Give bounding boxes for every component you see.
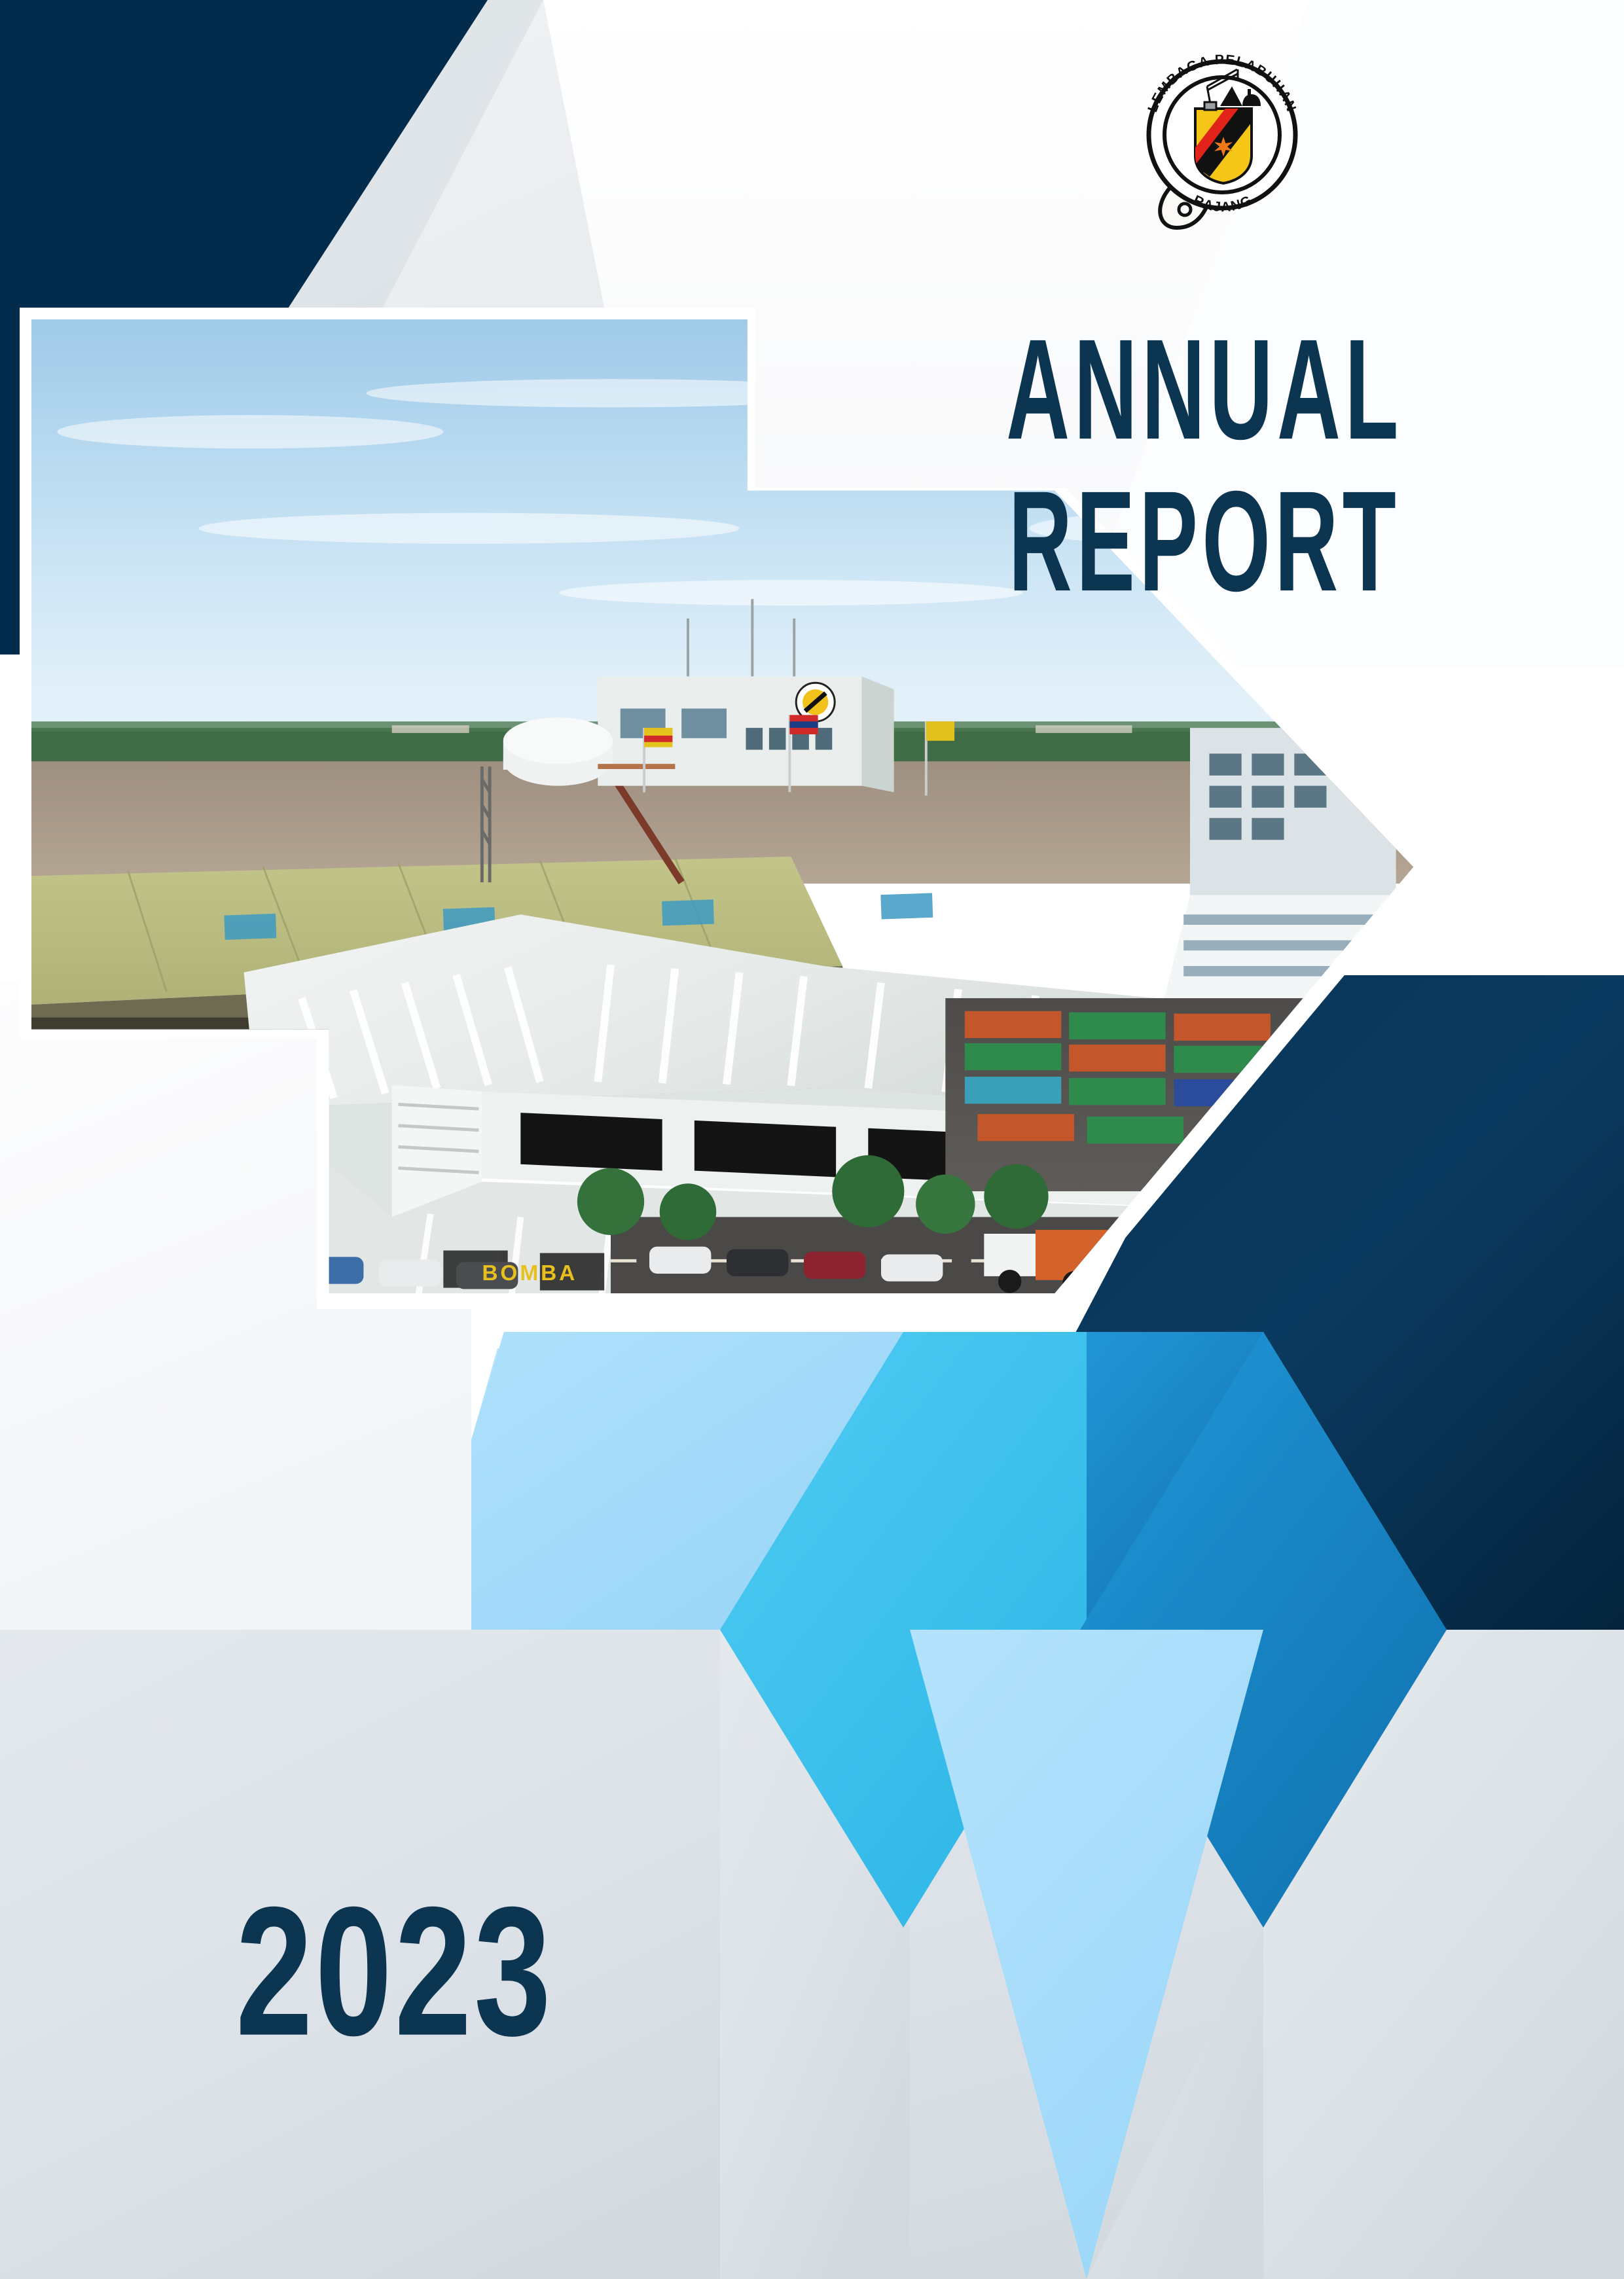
crane-base bbox=[1204, 102, 1216, 110]
road-marking-text: BOMBA bbox=[482, 1261, 577, 1285]
cover-title-block: ANNUAL REPORT bbox=[916, 314, 1492, 618]
lembaga-pelabuhan-rajang-logo-svg: LEMBAGA PELABUHAN RAJANG bbox=[1127, 31, 1310, 241]
organization-logo: LEMBAGA PELABUHAN RAJANG bbox=[1127, 31, 1310, 241]
logo-shield bbox=[1190, 98, 1258, 183]
cover-year: 2023 bbox=[236, 1880, 553, 2064]
annual-report-cover: LEMBAGA PELABUHAN RAJANG bbox=[0, 0, 1624, 2279]
title-line-report: REPORT bbox=[974, 443, 1435, 640]
anchor-hole-left bbox=[1179, 204, 1191, 215]
